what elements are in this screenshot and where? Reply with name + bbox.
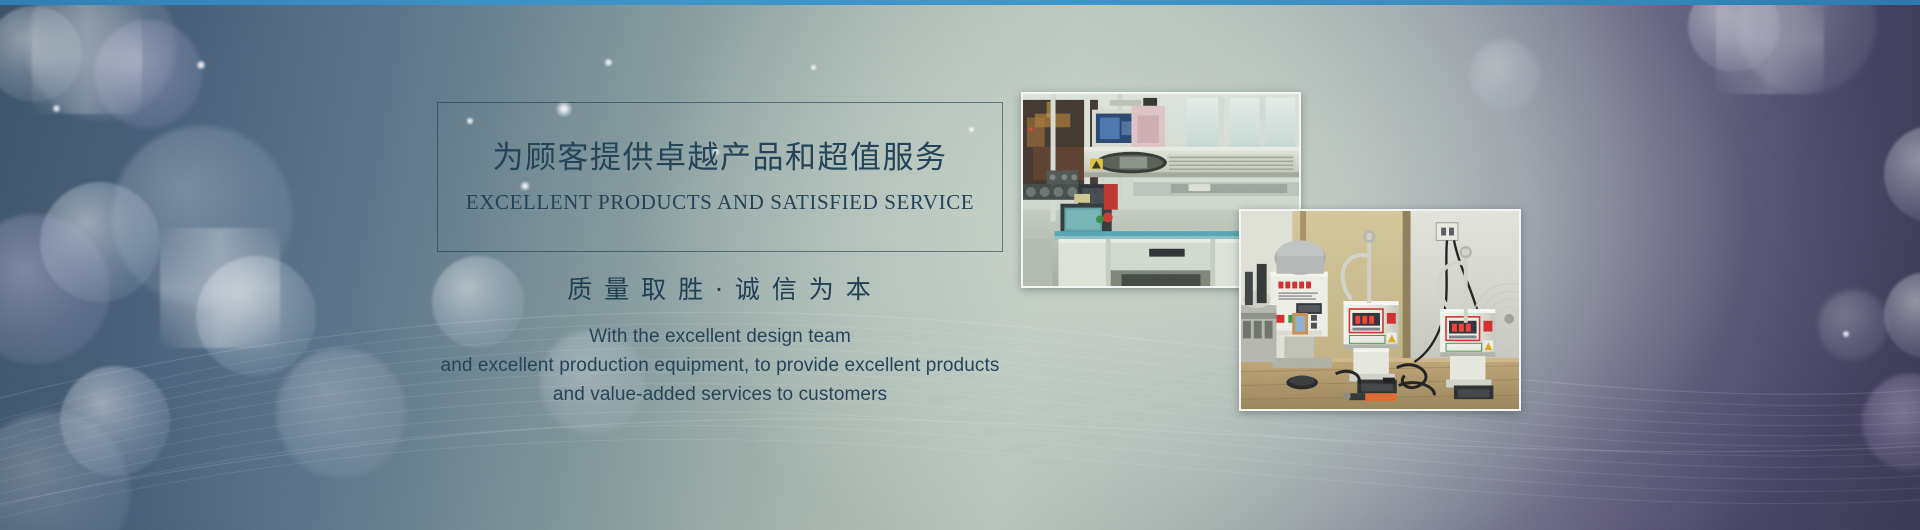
slogan-chinese: 质 量 取 胜 · 诚 信 为 本 (420, 270, 1020, 306)
crimping-press-photo (1241, 211, 1519, 409)
top-accent-rule (0, 0, 1920, 5)
bokeh-circle (1884, 272, 1920, 358)
bokeh-circle (1818, 290, 1888, 360)
bokeh-circle (1470, 40, 1540, 110)
sparkle-dot (1842, 330, 1850, 338)
promo-banner: 为顾客提供卓越产品和超值服务 EXCELLENT PRODUCTS AND SA… (0, 0, 1920, 530)
headline-frame (437, 102, 1003, 252)
bokeh-circle (1688, 0, 1780, 72)
bokeh-circle (1862, 374, 1920, 470)
description-line-2: and excellent production equipment, to p… (330, 351, 1110, 380)
bokeh-circle (1736, 0, 1876, 94)
lens-flare (1716, 0, 1824, 94)
photo-press (1239, 209, 1521, 411)
headline-english: EXCELLENT PRODUCTS AND SATISFIED SERVICE (437, 190, 1003, 215)
headline-chinese: 为顾客提供卓越产品和超值服务 (437, 132, 1003, 177)
bokeh-circle (1884, 126, 1920, 222)
description-line-3: and value-added services to customers (330, 380, 1110, 409)
description-paragraph: With the excellent design team and excel… (330, 322, 1110, 409)
description-line-1: With the excellent design team (330, 322, 1110, 351)
